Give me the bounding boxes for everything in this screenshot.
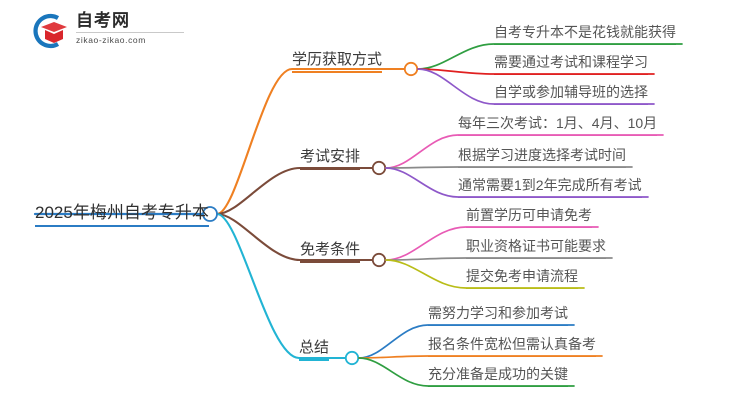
- branch-node-2[interactable]: 考试安排: [300, 145, 360, 170]
- mindmap-canvas: 自考网 zikao-zikao.com 2025年梅州自考专升本学历获取方式自考…: [0, 0, 750, 410]
- leaf-node-4-2[interactable]: 报名条件宽松但需认真备考: [428, 334, 596, 357]
- logo-text: 自考网 zikao-zikao.com: [76, 10, 196, 45]
- node-connector-dot[interactable]: [373, 254, 385, 266]
- leaf-node-3-2[interactable]: 职业资格证书可能要求: [466, 236, 606, 259]
- site-logo: 自考网 zikao-zikao.com: [28, 10, 198, 52]
- node-connector-dot[interactable]: [373, 162, 385, 174]
- logo-title: 自考网: [76, 10, 196, 32]
- logo-subtitle: zikao-zikao.com: [76, 35, 196, 45]
- leaf-node-3-1[interactable]: 前置学历可申请免考: [466, 205, 592, 228]
- node-connector-dot[interactable]: [346, 352, 358, 364]
- leaf-node-1-1[interactable]: 自考专升本不是花钱就能获得: [494, 22, 676, 45]
- leaf-node-2-3[interactable]: 通常需要1到2年完成所有考试: [458, 175, 642, 198]
- leaf-node-4-1[interactable]: 需努力学习和参加考试: [428, 303, 568, 326]
- branch-node-1[interactable]: 学历获取方式: [292, 48, 382, 73]
- branch-node-4[interactable]: 总结: [299, 336, 329, 361]
- leaf-node-1-3[interactable]: 自学或参加辅导班的选择: [494, 82, 648, 105]
- root-node[interactable]: 2025年梅州自考专升本: [35, 198, 209, 227]
- leaf-node-4-3[interactable]: 充分准备是成功的关键: [428, 364, 568, 387]
- leaf-node-3-3[interactable]: 提交免考申请流程: [466, 266, 578, 289]
- node-connector-dot[interactable]: [405, 63, 417, 75]
- zikao-graduation-cap-logo-icon: [28, 12, 70, 50]
- leaf-node-2-2[interactable]: 根据学习进度选择考试时间: [458, 145, 626, 168]
- branch-node-3[interactable]: 免考条件: [300, 238, 360, 263]
- leaf-node-2-1[interactable]: 每年三次考试：1月、4月、10月: [458, 113, 657, 136]
- leaf-node-1-2[interactable]: 需要通过考试和课程学习: [494, 52, 648, 75]
- logo-divider: [76, 32, 184, 33]
